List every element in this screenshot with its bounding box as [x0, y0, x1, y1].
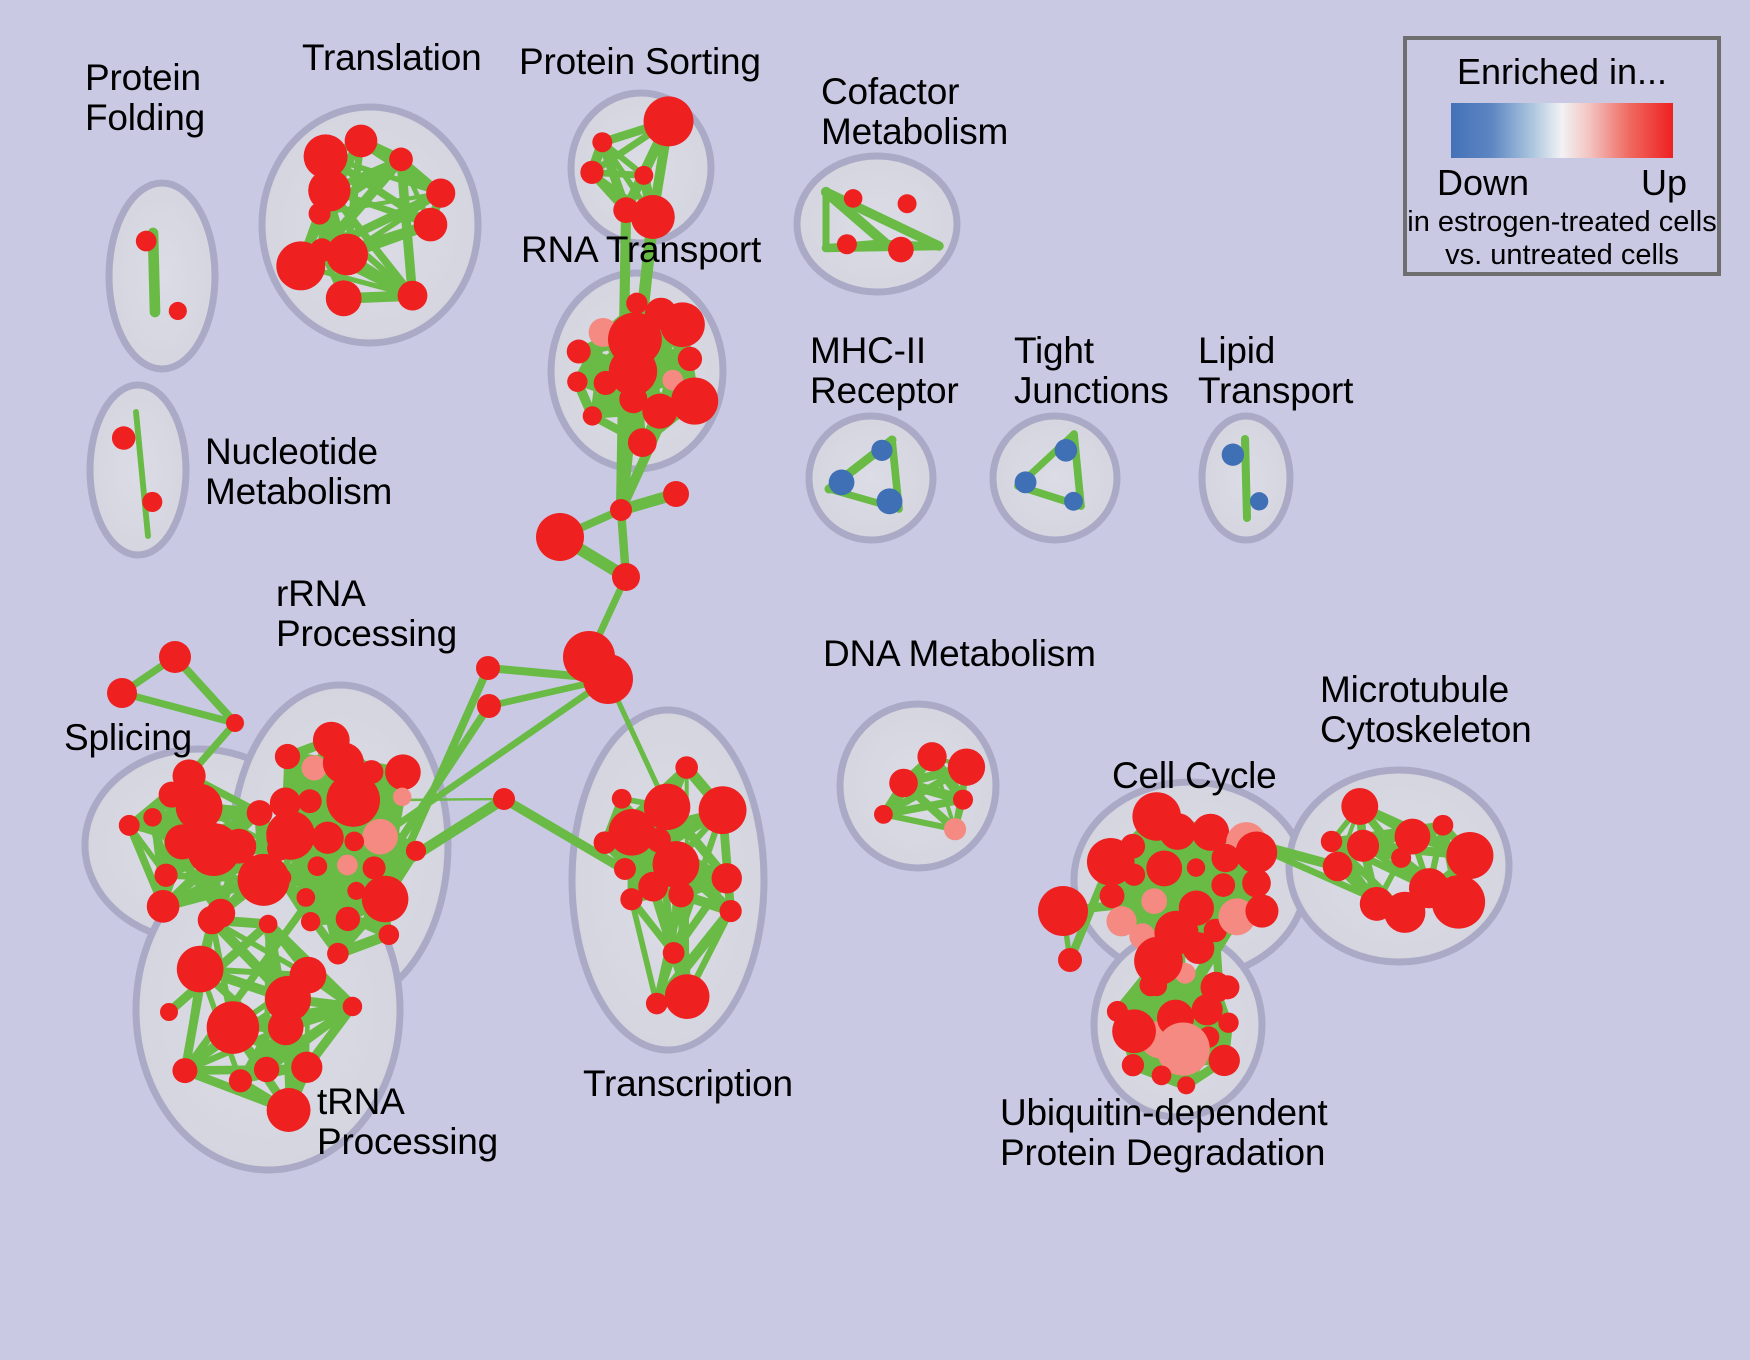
network-node[interactable] [308, 856, 328, 876]
network-node[interactable] [1323, 852, 1353, 882]
network-node[interactable] [147, 890, 180, 923]
legend-box: Enriched in... Down Up in estrogen-treat… [1403, 36, 1721, 276]
network-node[interactable] [259, 915, 278, 934]
network-node[interactable] [668, 882, 693, 907]
cluster-label-nucleotide-metabolism: Nucleotide Metabolism [205, 432, 392, 512]
network-node[interactable] [343, 997, 363, 1017]
network-node[interactable] [675, 756, 698, 779]
network-node[interactable] [143, 808, 162, 827]
network-node[interactable] [414, 208, 448, 242]
network-node[interactable] [310, 238, 334, 262]
network-node[interactable] [226, 714, 244, 732]
network-node[interactable] [336, 907, 360, 931]
network-node[interactable] [312, 822, 344, 854]
network-node[interactable] [1218, 1012, 1238, 1032]
network-node[interactable] [871, 440, 892, 461]
network-node[interactable] [159, 641, 191, 673]
network-node[interactable] [247, 800, 273, 826]
network-node[interactable] [536, 513, 584, 561]
network-node[interactable] [1201, 972, 1232, 1003]
legend-color-bar [1451, 103, 1673, 158]
cluster-label-rna-transport: RNA Transport [521, 230, 761, 270]
legend-title: Enriched in... [1457, 51, 1667, 93]
network-node[interactable] [198, 906, 226, 934]
network-node[interactable] [323, 742, 364, 783]
network-node[interactable] [266, 811, 315, 860]
network-node[interactable] [1391, 848, 1411, 868]
network-node[interactable] [268, 1010, 304, 1046]
network-node[interactable] [136, 231, 157, 252]
network-node[interactable] [1122, 1054, 1144, 1076]
network-node[interactable] [1015, 471, 1037, 493]
cluster-label-transcription: Transcription [583, 1064, 793, 1104]
network-node[interactable] [1433, 815, 1454, 836]
cluster-label-microtubule-cytoskeleton: Microtubule Cytoskeleton [1320, 670, 1532, 750]
network-node[interactable] [426, 179, 455, 208]
network-node[interactable] [646, 993, 668, 1015]
network-node[interactable] [874, 805, 893, 824]
network-node[interactable] [177, 946, 224, 993]
network-node[interactable] [898, 194, 917, 213]
network-node[interactable] [1100, 883, 1125, 908]
network-node[interactable] [953, 790, 973, 810]
network-node[interactable] [1107, 1001, 1128, 1022]
network-node[interactable] [644, 96, 694, 146]
network-node[interactable] [1222, 443, 1244, 465]
legend-low-label: Down [1437, 162, 1529, 204]
network-node[interactable] [678, 347, 702, 371]
cluster-label-protein-sorting: Protein Sorting [519, 42, 761, 82]
network-node[interactable] [154, 864, 177, 887]
network-node[interactable] [347, 882, 365, 900]
network-node[interactable] [1058, 948, 1082, 972]
legend-caption-line1: in estrogen-treated cells [1407, 206, 1717, 239]
network-node[interactable] [1152, 1065, 1172, 1085]
network-node[interactable] [877, 488, 903, 514]
network-node[interactable] [1120, 834, 1145, 859]
network-node[interactable] [1146, 975, 1167, 996]
network-node[interactable] [665, 974, 710, 1019]
network-node[interactable] [583, 654, 633, 704]
network-node[interactable] [1187, 858, 1205, 876]
network-node[interactable] [296, 888, 315, 907]
network-node[interactable] [393, 788, 412, 807]
network-node[interactable] [612, 789, 632, 809]
network-node[interactable] [1100, 862, 1121, 883]
network-node[interactable] [699, 786, 747, 834]
network-node[interactable] [1132, 792, 1181, 841]
network-node[interactable] [888, 237, 914, 263]
network-node[interactable] [619, 385, 647, 413]
cluster-label-rrna-processing: rRNA Processing [276, 574, 457, 654]
cluster-label-cell-cycle: Cell Cycle [1112, 756, 1277, 796]
network-node[interactable] [944, 818, 966, 840]
network-node[interactable] [275, 744, 300, 769]
cluster-label-ubiquitin-protein-degradation: Ubiquitin-dependent Protein Degradation [1000, 1093, 1327, 1173]
network-node[interactable] [273, 868, 291, 886]
network-node[interactable] [362, 819, 398, 855]
network-node[interactable] [663, 481, 689, 507]
network-node[interactable] [107, 678, 137, 708]
cluster-hull-mhc-ii-receptor[interactable] [809, 416, 933, 540]
network-node[interactable] [889, 769, 918, 798]
network-node[interactable] [829, 470, 855, 496]
network-node[interactable] [1038, 886, 1088, 936]
cluster-hull-cofactor-metabolism[interactable] [797, 156, 957, 292]
network-node[interactable] [327, 943, 349, 965]
network-node[interactable] [1321, 831, 1342, 852]
network-node[interactable] [406, 841, 426, 861]
network-node[interactable] [112, 426, 135, 449]
network-node[interactable] [493, 788, 515, 810]
network-node[interactable] [1341, 788, 1378, 825]
network-node[interactable] [1055, 439, 1078, 462]
network-node[interactable] [290, 957, 327, 994]
network-node[interactable] [326, 280, 362, 316]
network-node[interactable] [344, 832, 364, 852]
network-node[interactable] [142, 492, 162, 512]
network-node[interactable] [580, 161, 603, 184]
network-node[interactable] [837, 234, 857, 254]
cluster-label-cofactor-metabolism: Cofactor Metabolism [821, 72, 1008, 152]
network-node[interactable] [1432, 875, 1485, 928]
network-node[interactable] [1446, 832, 1493, 879]
network-node[interactable] [187, 823, 240, 876]
legend-high-label: Up [1641, 162, 1687, 204]
network-node[interactable] [671, 377, 718, 424]
cluster-hull-tight-junctions[interactable] [993, 416, 1117, 540]
network-node[interactable] [592, 132, 612, 152]
network-node[interactable] [1360, 887, 1394, 921]
network-node[interactable] [594, 831, 617, 854]
network-node[interactable] [948, 748, 985, 785]
network-node[interactable] [1347, 830, 1379, 862]
cluster-hull-protein-folding[interactable] [109, 183, 215, 369]
network-node[interactable] [229, 1069, 252, 1092]
network-node[interactable] [634, 166, 653, 185]
network-node[interactable] [176, 784, 223, 831]
network-node[interactable] [626, 293, 647, 314]
network-node[interactable] [567, 340, 591, 364]
network-node[interactable] [1141, 888, 1167, 914]
network-node[interactable] [172, 1058, 197, 1083]
legend-caption-line2: vs. untreated cells [1445, 239, 1679, 272]
network-node[interactable] [302, 755, 327, 780]
network-node[interactable] [628, 428, 657, 457]
network-node[interactable] [1146, 850, 1182, 886]
network-node[interactable] [291, 1052, 322, 1083]
network-node[interactable] [1250, 492, 1268, 510]
network-node[interactable] [1183, 932, 1215, 964]
network-node[interactable] [337, 855, 358, 876]
enrichment-map-figure: Protein FoldingTranslationProtein Sortin… [0, 0, 1750, 1360]
network-node[interactable] [614, 858, 636, 880]
network-node[interactable] [267, 1088, 311, 1132]
cluster-label-mhc-ii-receptor: MHC-II Receptor [810, 331, 959, 411]
network-node[interactable] [620, 888, 642, 910]
network-node[interactable] [345, 125, 378, 158]
network-node[interactable] [207, 1001, 260, 1054]
network-node[interactable] [583, 406, 602, 425]
network-node[interactable] [645, 298, 677, 330]
network-node[interactable] [1123, 864, 1145, 886]
network-node[interactable] [1211, 873, 1235, 897]
network-node[interactable] [1064, 492, 1083, 511]
network-node[interactable] [720, 900, 742, 922]
cluster-label-dna-metabolism: DNA Metabolism [823, 634, 1096, 674]
network-node[interactable] [712, 863, 742, 893]
network-node[interactable] [362, 876, 409, 923]
network-node[interactable] [612, 563, 640, 591]
network-node[interactable] [663, 942, 685, 964]
network-node[interactable] [613, 197, 639, 223]
cluster-label-trna-processing: tRNA Processing [317, 1082, 498, 1162]
cluster-label-splicing: Splicing [64, 718, 192, 758]
network-node[interactable] [398, 281, 428, 311]
network-node[interactable] [389, 148, 413, 172]
cluster-label-lipid-transport: Lipid Transport [1198, 331, 1353, 411]
cluster-label-protein-folding: Protein Folding [85, 58, 205, 138]
network-node[interactable] [844, 189, 863, 208]
network-node[interactable] [379, 924, 400, 945]
network-node[interactable] [1211, 844, 1239, 872]
network-node[interactable] [119, 815, 140, 836]
network-node[interactable] [1235, 832, 1277, 874]
network-edge [370, 799, 504, 800]
network-node[interactable] [917, 742, 946, 771]
network-node[interactable] [567, 372, 587, 392]
network-node[interactable] [270, 788, 301, 819]
network-node[interactable] [477, 694, 501, 718]
network-node[interactable] [476, 656, 500, 680]
network-node[interactable] [610, 499, 632, 521]
cluster-label-tight-junctions: Tight Junctions [1014, 331, 1169, 411]
network-node[interactable] [1106, 906, 1136, 936]
network-node[interactable] [301, 912, 320, 931]
network-node[interactable] [385, 754, 421, 790]
network-node[interactable] [608, 809, 655, 856]
network-node[interactable] [254, 1057, 279, 1082]
network-node[interactable] [304, 134, 348, 178]
cluster-label-translation: Translation [302, 38, 481, 78]
network-node[interactable] [169, 302, 187, 320]
network-node[interactable] [646, 828, 671, 853]
network-node[interactable] [160, 1003, 178, 1021]
network-node[interactable] [298, 789, 322, 813]
network-edge [1245, 439, 1247, 518]
legend-endpoints: Down Up [1437, 162, 1687, 204]
network-node[interactable] [1245, 895, 1278, 928]
network-node[interactable] [1209, 1045, 1240, 1076]
